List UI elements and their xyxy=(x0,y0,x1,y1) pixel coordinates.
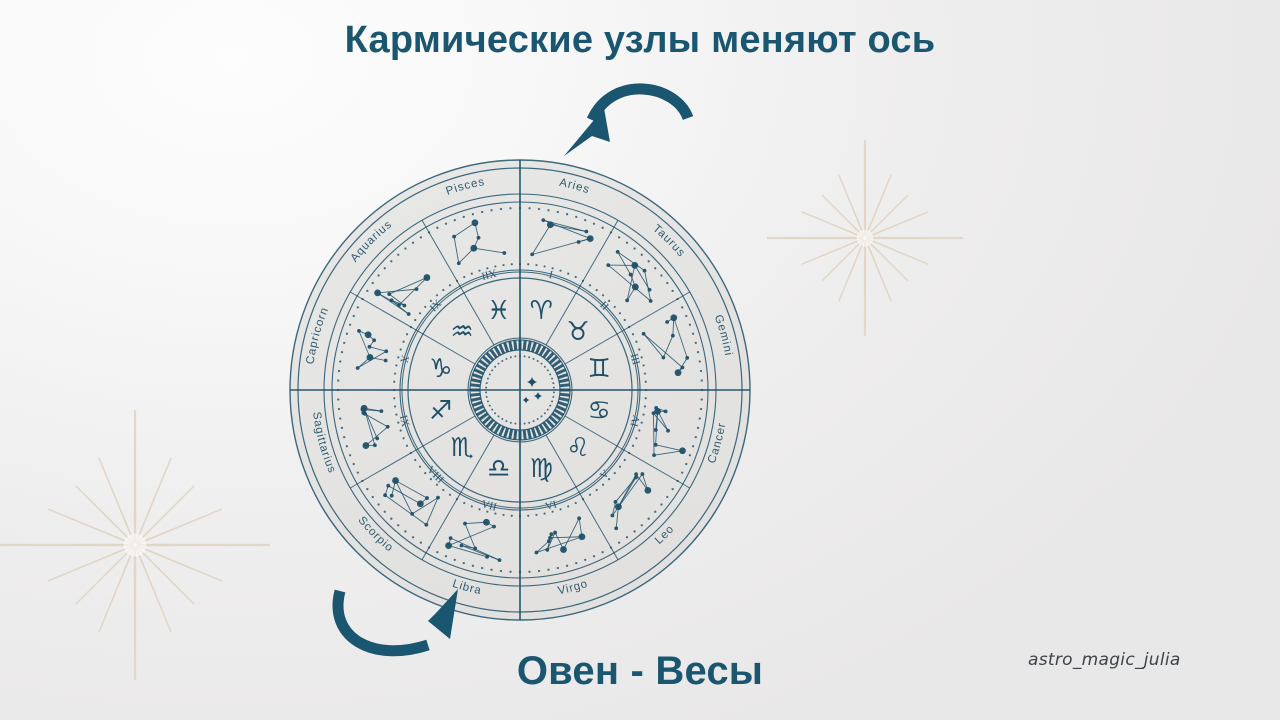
page-title: Кармические узлы меняют ось xyxy=(0,20,1280,61)
svg-text:♒: ♒ xyxy=(450,317,473,347)
svg-text:♍: ♍ xyxy=(530,454,553,484)
svg-text:♏: ♏ xyxy=(450,433,473,463)
svg-text:♉: ♉ xyxy=(566,317,589,347)
starburst-bottom-left-icon xyxy=(0,405,275,685)
slide-canvas: AriesTaurusGeminiCancerLeoVirgoLibraScor… xyxy=(0,0,1280,720)
starburst-top-right-icon xyxy=(762,135,968,341)
svg-text:♌: ♌ xyxy=(566,433,589,463)
svg-text:♎: ♎ xyxy=(487,454,510,484)
watermark-handle: astro_magic_julia xyxy=(1028,650,1181,670)
svg-text:♋: ♋ xyxy=(588,396,611,426)
svg-text:♐: ♐ xyxy=(429,396,452,426)
svg-text:♊: ♊ xyxy=(588,354,611,384)
svg-text:♈: ♈ xyxy=(530,296,553,326)
zodiac-wheel: AriesTaurusGeminiCancerLeoVirgoLibraScor… xyxy=(288,158,752,622)
svg-text:♑: ♑ xyxy=(429,354,452,384)
svg-text:♓: ♓ xyxy=(487,296,510,326)
